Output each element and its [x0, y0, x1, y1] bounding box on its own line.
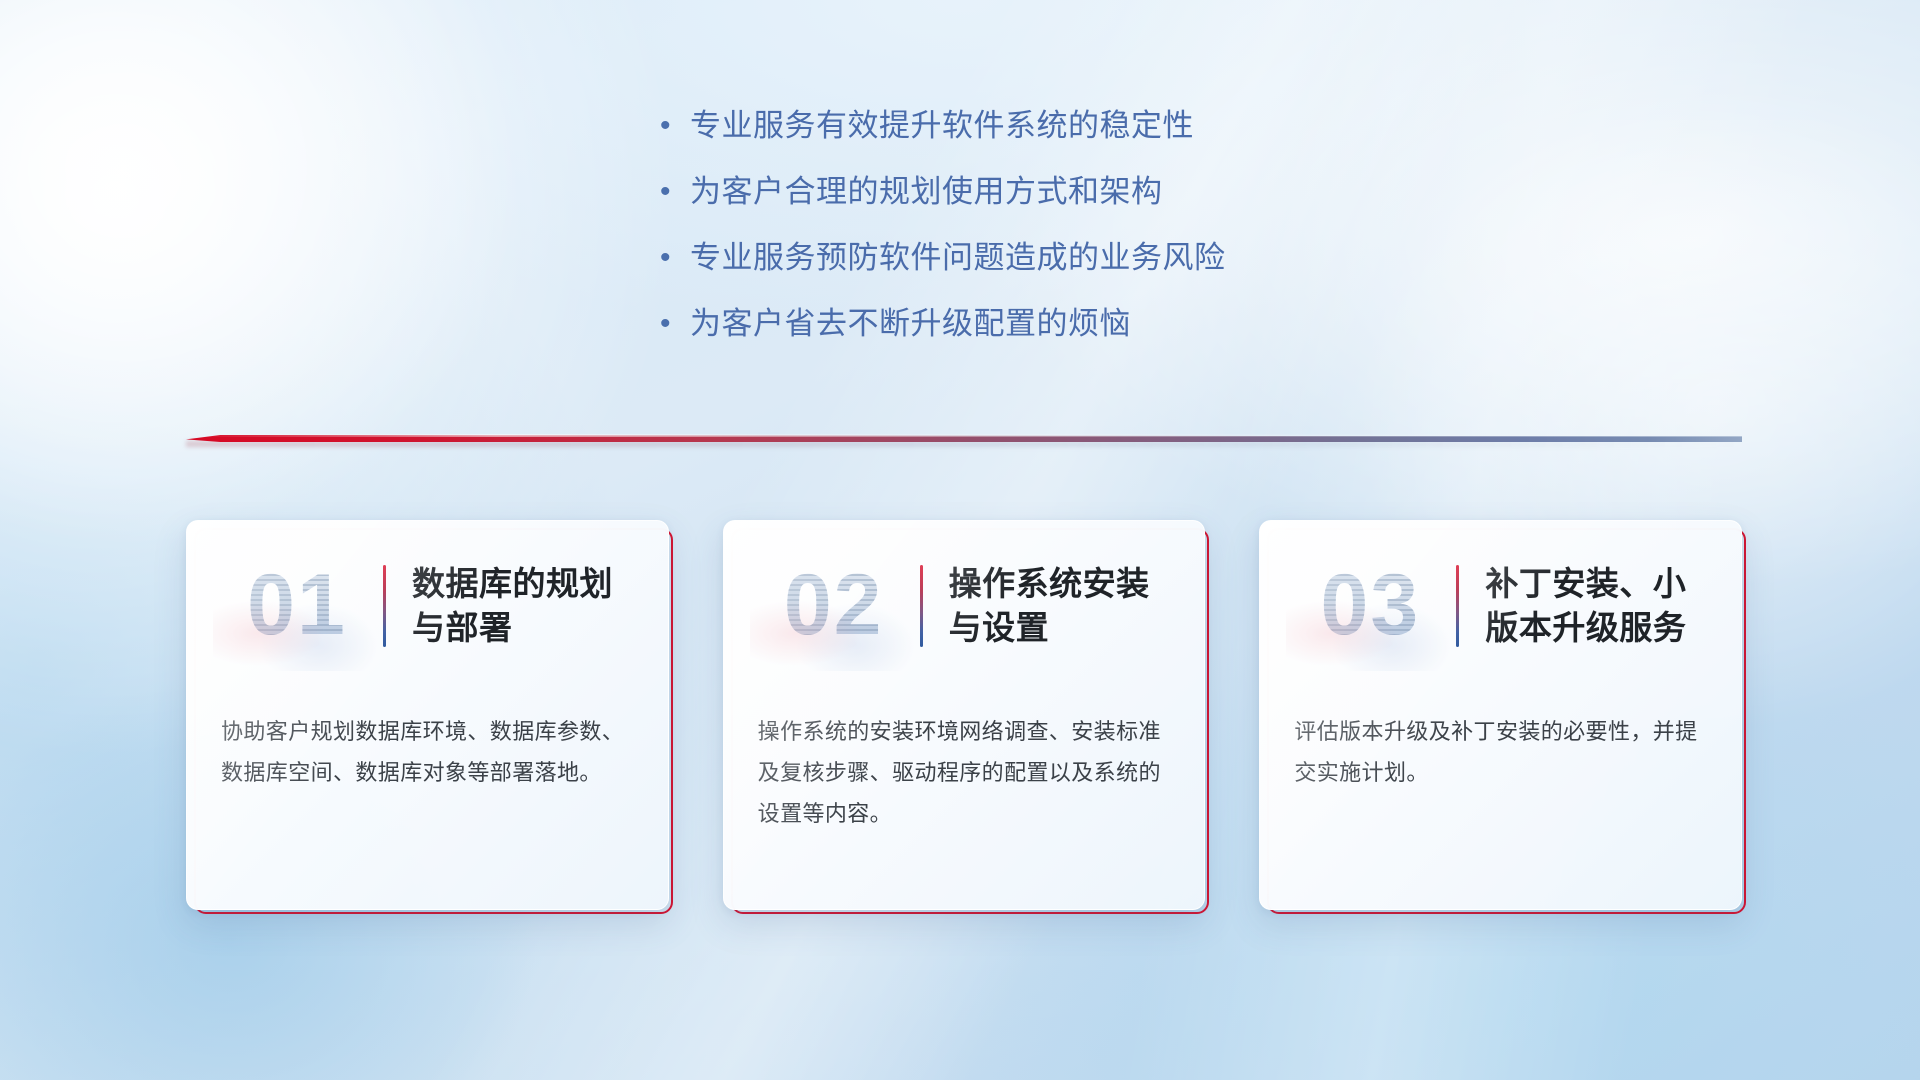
bullet-text: 为客户合理的规划使用方式和架构	[690, 172, 1163, 212]
card-header: 03 补丁安装、小版本升级服务	[1260, 543, 1741, 668]
bullet-dot-icon: •	[660, 304, 690, 344]
card-title: 操作系统安装与设置	[949, 562, 1205, 650]
card-surface: 02 操作系统安装与设置 操作系统的安装环境网络调查、安装标准及复核步骤、驱动程…	[723, 520, 1206, 910]
card-divider-line	[383, 565, 386, 647]
bullet-dot-icon: •	[660, 106, 690, 146]
service-card-01[interactable]: 01 数据库的规划与部署 协助客户规划数据库环境、数据库参数、数据库空间、数据库…	[186, 520, 669, 910]
card-title: 补丁安装、小版本升级服务	[1485, 562, 1741, 650]
list-item: • 为客户合理的规划使用方式和架构	[660, 172, 1440, 216]
list-item: • 为客户省去不断升级配置的烦恼	[660, 304, 1440, 348]
divider-bar	[186, 435, 1742, 442]
divider-shadow	[186, 441, 1742, 447]
card-number: 03	[1290, 551, 1450, 661]
benefits-bullet-list: • 专业服务有效提升软件系统的稳定性 • 为客户合理的规划使用方式和架构 • 专…	[660, 106, 1440, 370]
card-surface: 03 补丁安装、小版本升级服务 评估版本升级及补丁安装的必要性，并提交实施计划。	[1259, 520, 1742, 910]
slide-root: • 专业服务有效提升软件系统的稳定性 • 为客户合理的规划使用方式和架构 • 专…	[0, 0, 1920, 1080]
card-description: 协助客户规划数据库环境、数据库参数、数据库空间、数据库对象等部署落地。	[221, 711, 636, 793]
service-card-03[interactable]: 03 补丁安装、小版本升级服务 评估版本升级及补丁安装的必要性，并提交实施计划。	[1259, 520, 1742, 910]
divider-highlight	[186, 434, 1742, 437]
card-description: 操作系统的安装环境网络调查、安装标准及复核步骤、驱动程序的配置以及系统的设置等内…	[758, 711, 1173, 834]
list-item: • 专业服务有效提升软件系统的稳定性	[660, 106, 1440, 150]
card-divider-line	[1456, 565, 1459, 647]
bullet-text: 专业服务有效提升软件系统的稳定性	[690, 106, 1194, 146]
card-description: 评估版本升级及补丁安装的必要性，并提交实施计划。	[1294, 711, 1709, 793]
card-header: 01 数据库的规划与部署	[187, 543, 668, 668]
card-surface: 01 数据库的规划与部署 协助客户规划数据库环境、数据库参数、数据库空间、数据库…	[186, 520, 669, 910]
card-title: 数据库的规划与部署	[412, 562, 668, 650]
section-divider	[186, 427, 1742, 449]
card-divider-line	[920, 565, 923, 647]
card-number: 02	[754, 551, 914, 661]
bullet-text: 专业服务预防软件问题造成的业务风险	[690, 238, 1226, 278]
background-glow-top-left	[0, 0, 580, 600]
card-header: 02 操作系统安装与设置	[724, 543, 1205, 668]
list-item: • 专业服务预防软件问题造成的业务风险	[660, 238, 1440, 282]
bullet-dot-icon: •	[660, 172, 690, 212]
service-card-02[interactable]: 02 操作系统安装与设置 操作系统的安装环境网络调查、安装标准及复核步骤、驱动程…	[723, 520, 1206, 910]
bullet-text: 为客户省去不断升级配置的烦恼	[690, 304, 1131, 344]
bullet-dot-icon: •	[660, 238, 690, 278]
service-cards-row: 01 数据库的规划与部署 协助客户规划数据库环境、数据库参数、数据库空间、数据库…	[186, 520, 1742, 920]
card-number: 01	[217, 551, 377, 661]
